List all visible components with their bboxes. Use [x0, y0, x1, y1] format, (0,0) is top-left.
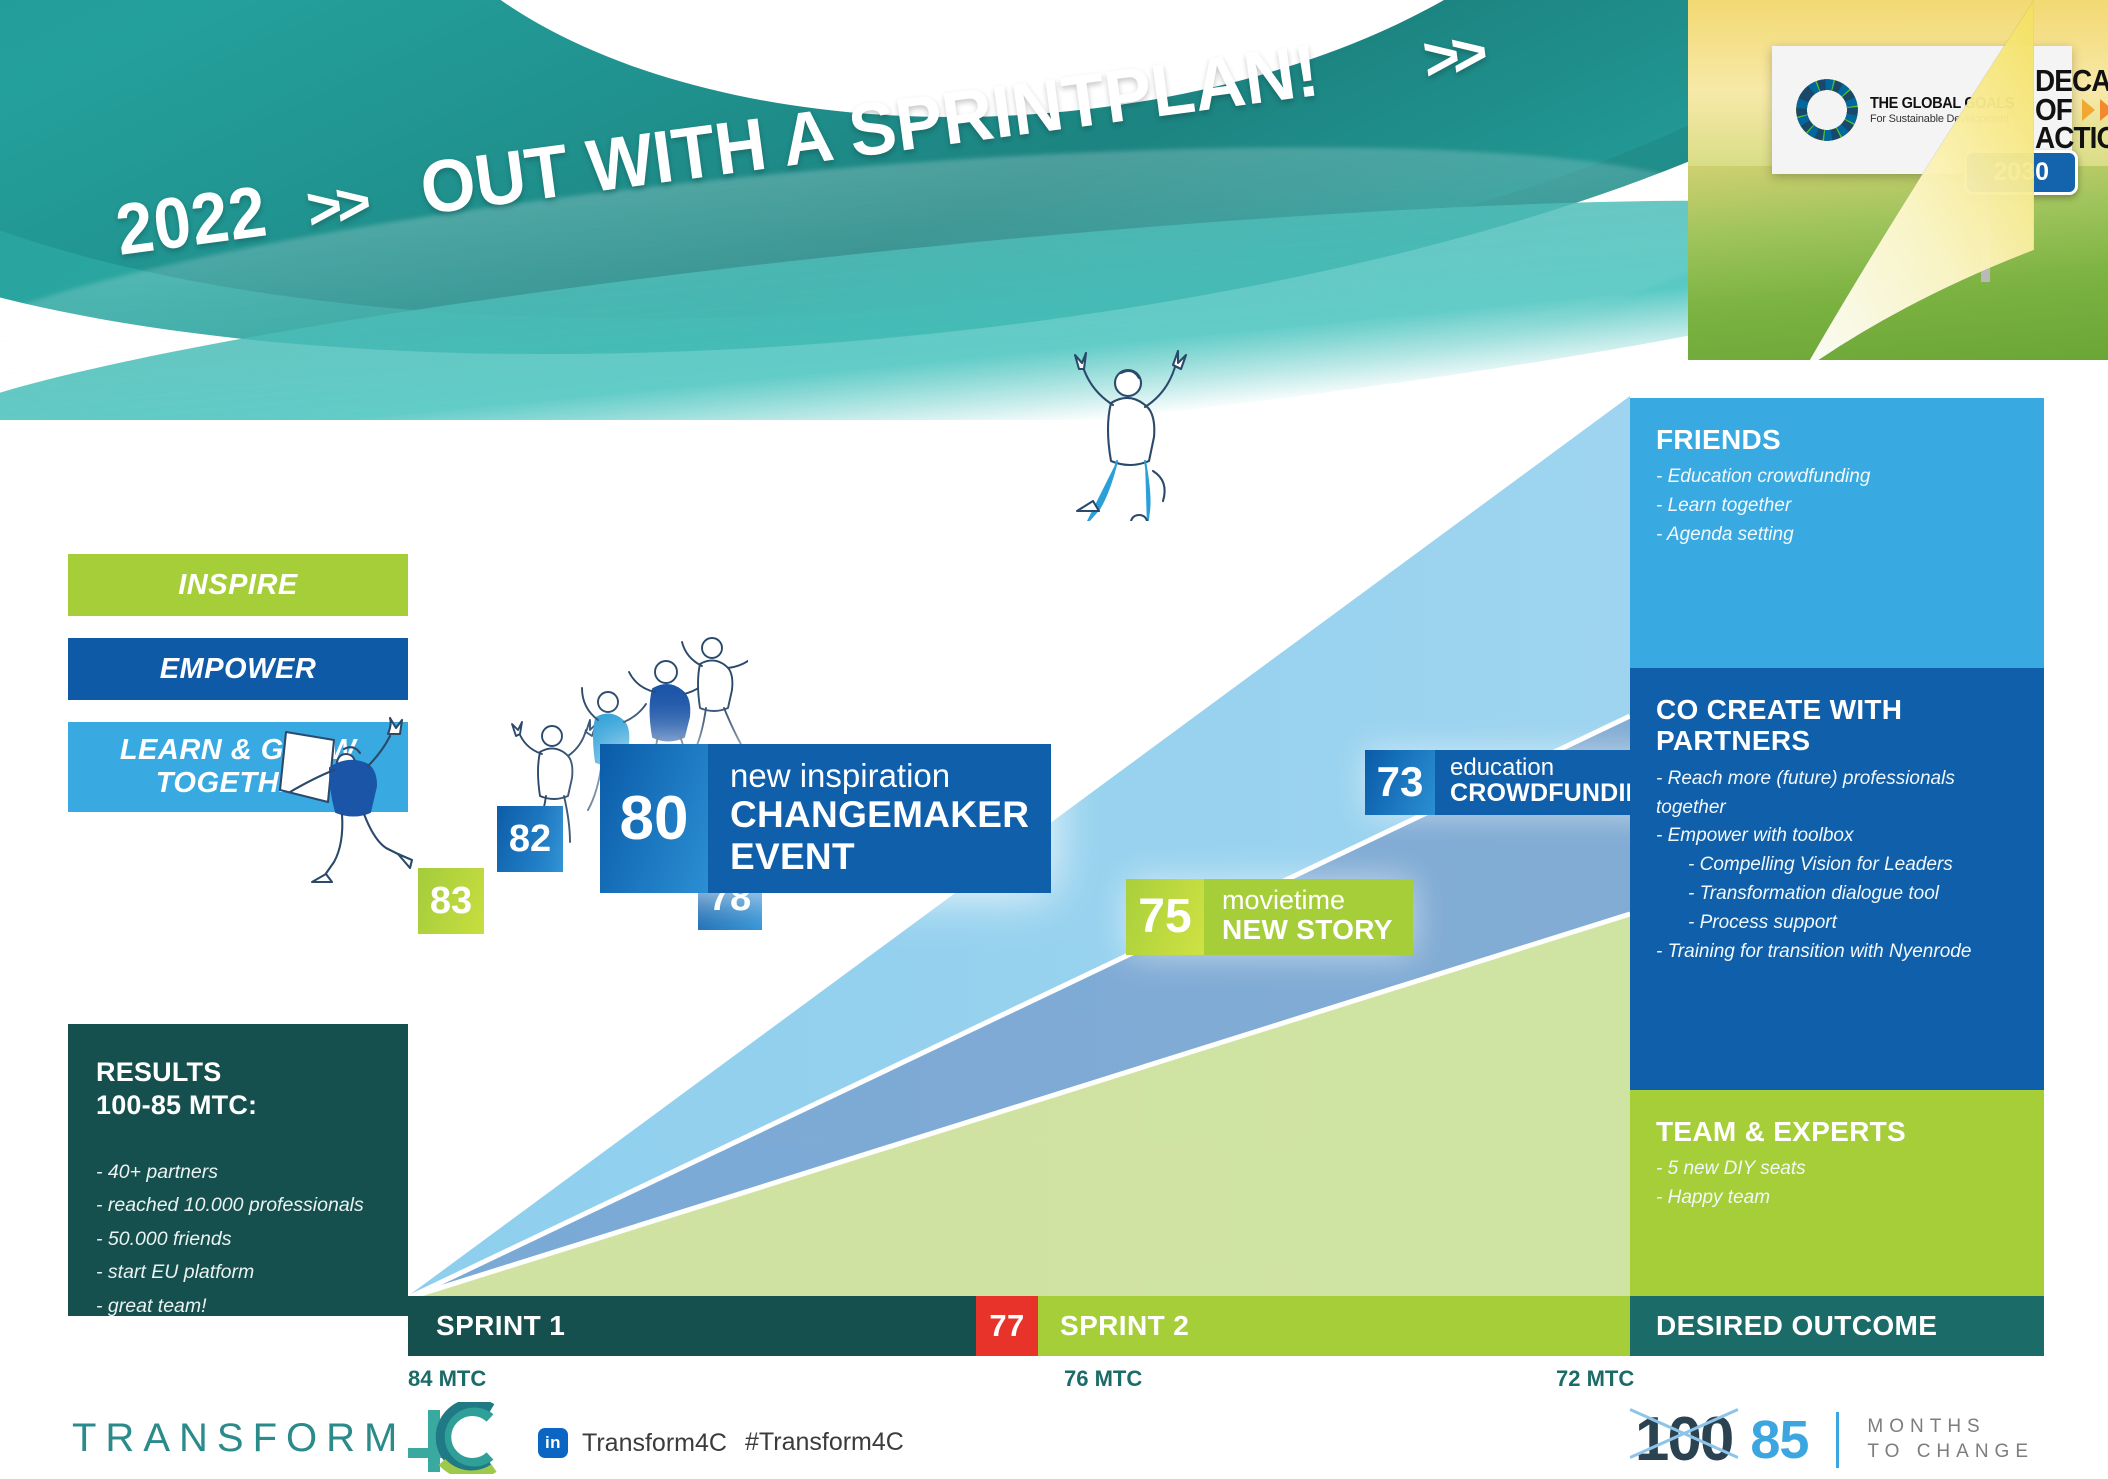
legend-label-empower: EMPOWER: [160, 653, 317, 686]
decade-of-action-wordmark: DECADE OF ACTION: [2035, 67, 2108, 153]
panel-title-team-experts: TEAM & EXPERTS: [1656, 1116, 2018, 1147]
list-item: - Education crowdfunding: [1656, 463, 2018, 492]
vertical-divider: [1836, 1412, 1839, 1468]
axis-tick-72-mtc: 72 MTC: [1556, 1366, 1634, 1392]
action-text: ACTION: [2035, 124, 2108, 153]
linkedin-handle: Transform4C: [582, 1429, 727, 1458]
hashtag-label: #Transform4C: [745, 1428, 904, 1457]
legend-item-empower[interactable]: EMPOWER: [68, 638, 408, 700]
axis-tick-76-mtc: 76 MTC: [1064, 1366, 1142, 1392]
linkedin-link[interactable]: in Transform4C: [538, 1428, 727, 1458]
global-goals-line1: THE GLOBAL GOALS: [1870, 95, 2014, 113]
callout-sub-movietime: movietime: [1222, 886, 1393, 915]
mtc-85-value: 85: [1750, 1409, 1808, 1471]
chevron-right-icon-2: [2100, 99, 2108, 121]
global-goals-wordmark: THE GLOBAL GOALS For Sustainable Develop…: [1870, 95, 2023, 125]
callout-new-story[interactable]: 75 movietime NEW STORY: [1126, 879, 1413, 955]
mtc-100-value: 100: [1635, 1405, 1732, 1474]
callout-value-80: 80: [600, 744, 708, 893]
transform4c-wordmark: TRANSFORM: [72, 1416, 406, 1461]
sdg-color-wheel-icon: [1786, 69, 1868, 151]
list-item: - Transformation dialogue tool: [1656, 880, 2018, 909]
double-chevron-icon-left: >>: [303, 167, 370, 243]
chevron-right-icon-1: [2082, 99, 2095, 121]
mtc-words-line2: TO CHANGE: [1867, 1440, 2034, 1465]
list-item: - start EU platform: [96, 1256, 380, 1290]
panel-title-friends: FRIENDS: [1656, 424, 2018, 455]
panel-friends: FRIENDS - Education crowdfunding - Learn…: [1630, 398, 2044, 668]
results-panel: RESULTS 100-85 MTC: - 40+ partners - rea…: [68, 1024, 408, 1316]
results-title-line2: 100-85 MTC:: [96, 1089, 380, 1122]
marker-82: 82: [497, 806, 563, 872]
list-item: - 5 new DIY seats: [1656, 1155, 2018, 1184]
callout-changemaker-event[interactable]: 80 new inspiration CHANGEMAKER EVENT: [600, 744, 1051, 893]
list-item: - Agenda setting: [1656, 521, 2018, 550]
axis-milestone-77: 77: [976, 1296, 1038, 1356]
callout-main-changemaker: CHANGEMAKER: [730, 794, 1029, 835]
legend-item-inspire[interactable]: INSPIRE: [68, 554, 408, 616]
axis-label-desired-outcome: DESIRED OUTCOME: [1630, 1296, 2044, 1356]
mtc-words: MONTHS TO CHANGE: [1867, 1415, 2034, 1464]
transform4c-logo: TRANSFORM: [72, 1402, 500, 1474]
global-goals-line2: For Sustainable Development: [1870, 113, 2017, 125]
axis-tick-84-mtc: 84 MTC: [408, 1366, 486, 1392]
person-celebrating-illustration: [1053, 321, 1203, 521]
panel-team-experts: TEAM & EXPERTS - 5 new DIY seats - Happy…: [1630, 1090, 2044, 1296]
callout-sub-new-inspiration: new inspiration: [730, 758, 1029, 794]
panel-list-team-experts: - 5 new DIY seats - Happy team: [1656, 1155, 2018, 1213]
legend-label-inspire: INSPIRE: [178, 569, 298, 602]
callout-value-75: 75: [1126, 879, 1204, 955]
callout-main-event: EVENT: [730, 836, 1029, 877]
panel-list-co-create: - Reach more (future) professionals toge…: [1656, 765, 2018, 967]
list-item: - Learn together: [1656, 492, 2018, 521]
marker-83: 83: [418, 868, 484, 934]
sign-pole: [1981, 190, 1990, 282]
list-item: - Compelling Vision for Leaders: [1656, 851, 2018, 880]
panel-list-friends: - Education crowdfunding - Learn togethe…: [1656, 463, 2018, 550]
transform4c-mark-icon: [404, 1402, 500, 1474]
mtc-100-struck: 100: [1635, 1404, 1732, 1475]
list-item: - 50.000 friends: [96, 1223, 380, 1257]
months-to-change-logo: 100 85 MONTHS TO CHANGE: [1635, 1404, 2034, 1475]
axis-label-sprint-2: SPRINT 2: [1038, 1296, 1630, 1356]
list-item: - Happy team: [1656, 1184, 2018, 1213]
list-item: - 40+ partners: [96, 1156, 380, 1190]
list-item: - reached 10.000 professionals: [96, 1189, 380, 1223]
axis-label-sprint-1: SPRINT 1: [408, 1296, 976, 1356]
mtc-words-line1: MONTHS: [1867, 1415, 2034, 1440]
callout-value-73: 73: [1365, 750, 1435, 815]
list-item: - Process support: [1656, 909, 2018, 938]
results-list: - 40+ partners - reached 10.000 professi…: [96, 1156, 380, 1324]
person-runner-illustration: [268, 706, 438, 886]
year-2030-sign: 2030: [1964, 150, 2078, 195]
panel-co-create-with-partners: CO CREATE WITH PARTNERS - Reach more (fu…: [1630, 668, 2044, 1090]
sdg-decade-of-action-badge: THE GLOBAL GOALS For Sustainable Develop…: [1688, 0, 2108, 360]
panel-title-co-create: CO CREATE WITH PARTNERS: [1656, 694, 2018, 757]
double-chevron-icon-right: >>: [1419, 18, 1484, 96]
list-item: - great team!: [96, 1290, 380, 1324]
results-title-line1: RESULTS: [96, 1056, 380, 1089]
linkedin-icon: in: [538, 1428, 568, 1458]
list-item: - Reach more (future) professionals toge…: [1656, 765, 2018, 823]
list-item: - Training for transition with Nyenrode: [1656, 938, 2018, 967]
footer: TRANSFORM in Transform4C #Transform4C 10…: [0, 1390, 2108, 1478]
list-item: - Empower with toolbox: [1656, 822, 2018, 851]
callout-main-new-story: NEW STORY: [1222, 915, 1393, 946]
